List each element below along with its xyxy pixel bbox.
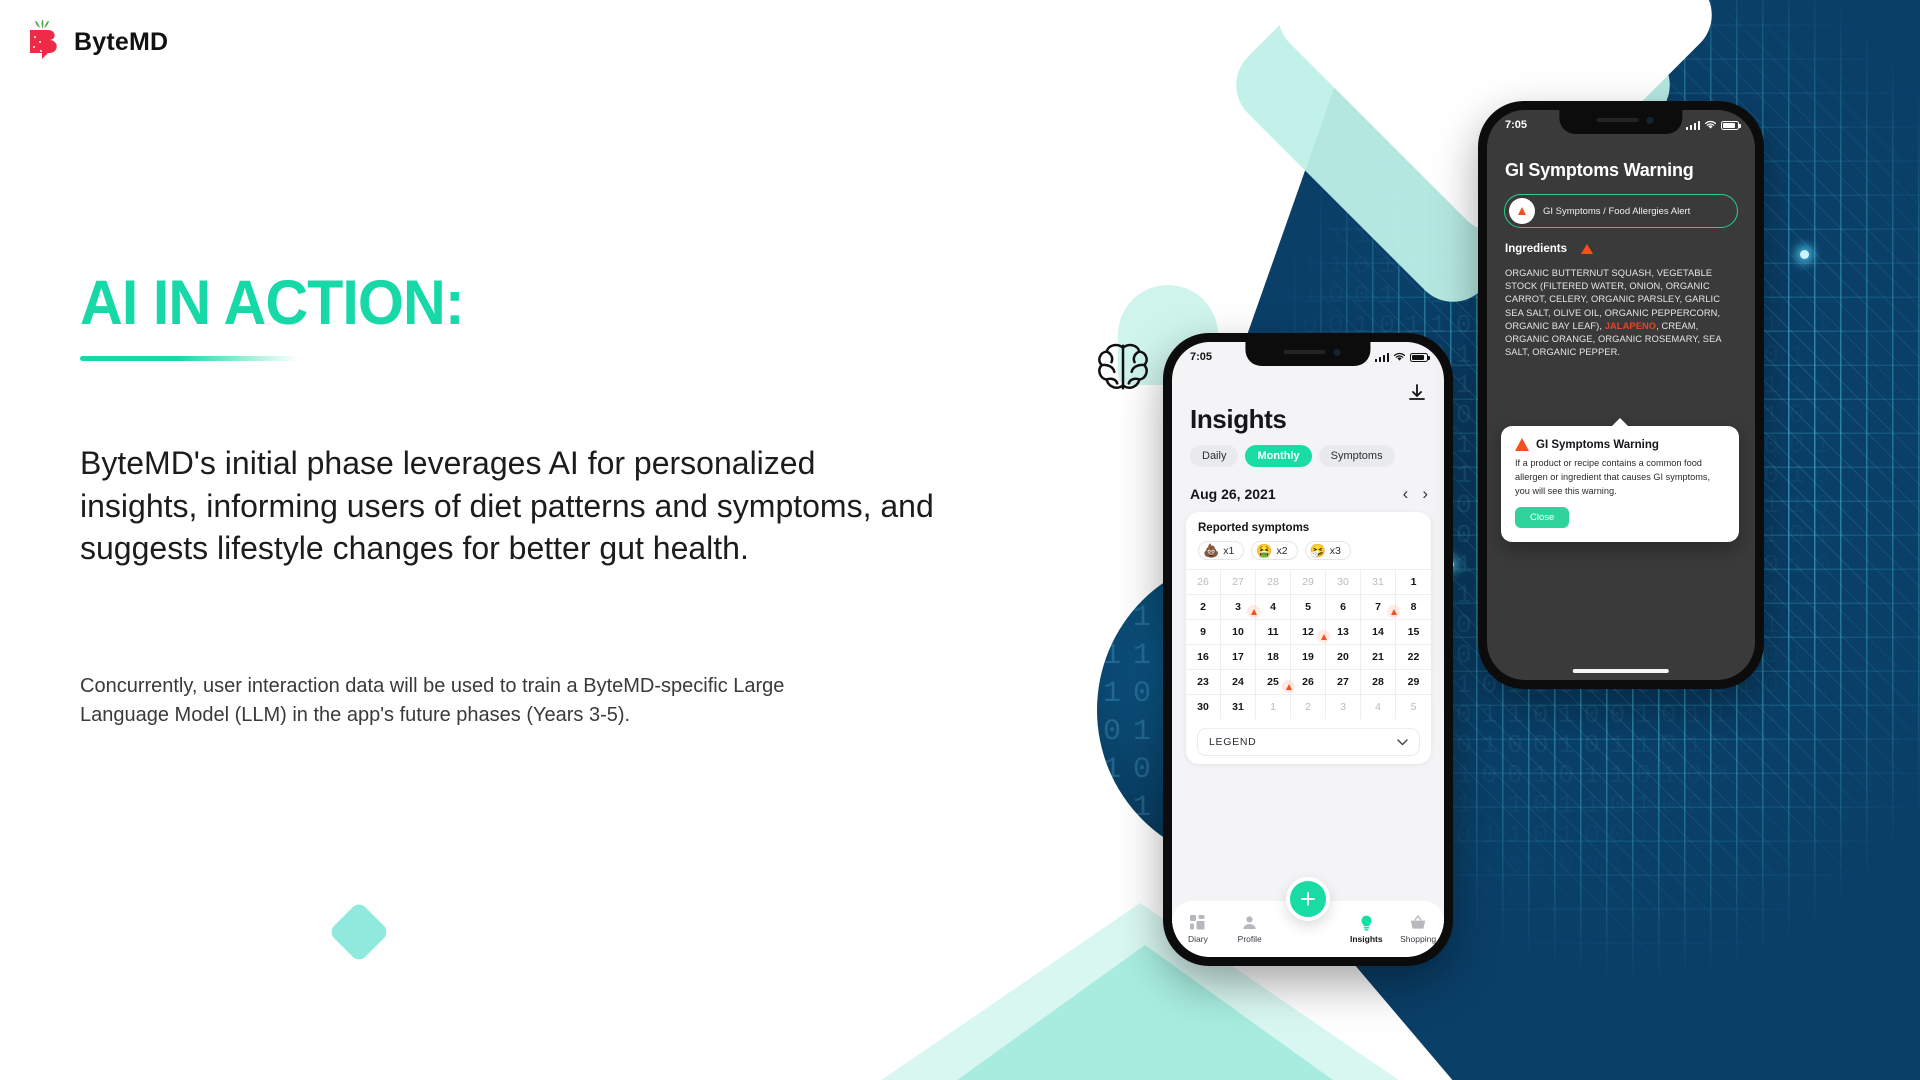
reported-symptoms-card: Reported symptoms 💩 x1 🤮 x2 🤧 x3 2627282… bbox=[1186, 512, 1431, 764]
grid-icon bbox=[1172, 914, 1224, 931]
calendar-day[interactable]: 20 bbox=[1326, 644, 1361, 669]
page-title: AI IN ACTION: bbox=[80, 272, 464, 335]
front-camera bbox=[1334, 349, 1341, 356]
symptom-count: x1 bbox=[1223, 545, 1234, 557]
legend-dropdown[interactable]: LEGEND bbox=[1197, 728, 1420, 756]
status-icons bbox=[1375, 352, 1429, 362]
tab-label: Profile bbox=[1238, 934, 1262, 944]
tab-daily[interactable]: Daily bbox=[1190, 445, 1238, 467]
speaker-grill bbox=[1596, 118, 1638, 122]
calendar-day[interactable]: 2 bbox=[1186, 594, 1221, 619]
symptom-chip[interactable]: 🤧 x3 bbox=[1305, 541, 1351, 560]
segment-control[interactable]: Daily Monthly Symptoms bbox=[1190, 445, 1395, 467]
symptom-chip[interactable]: 🤮 x2 bbox=[1251, 541, 1297, 560]
speaker-grill bbox=[1283, 350, 1326, 354]
brand-name: ByteMD bbox=[74, 28, 168, 57]
lightbulb-icon bbox=[1340, 914, 1392, 931]
calendar-day[interactable]: 8 bbox=[1396, 594, 1431, 619]
strawberry-b-logo-icon bbox=[22, 18, 64, 66]
warning-screen: 7:05 GI Symptoms Warning GI Symptoms / F… bbox=[1487, 110, 1755, 680]
symptom-chip-list: 💩 x1 🤮 x2 🤧 x3 bbox=[1198, 541, 1431, 560]
date-navigator: Aug 26, 2021 ‹ › bbox=[1190, 484, 1428, 504]
tab-symptoms[interactable]: Symptoms bbox=[1319, 445, 1395, 467]
tab-insights[interactable]: Insights bbox=[1340, 914, 1392, 944]
calendar-day[interactable]: 27 bbox=[1221, 569, 1256, 594]
warning-triangle-icon bbox=[1581, 244, 1593, 254]
current-date: Aug 26, 2021 bbox=[1190, 486, 1276, 502]
phone-insights: 7:05 Insights Daily Monthly Symptoms bbox=[1163, 333, 1453, 966]
tab-profile[interactable]: Profile bbox=[1224, 914, 1276, 944]
basket-icon bbox=[1392, 914, 1444, 931]
calendar-day[interactable]: 29 bbox=[1291, 569, 1326, 594]
page-title: Insights bbox=[1190, 404, 1286, 435]
chevron-right-icon[interactable]: › bbox=[1422, 484, 1428, 504]
calendar-day[interactable]: 19 bbox=[1291, 644, 1326, 669]
person-icon bbox=[1224, 914, 1276, 931]
ingredients-text: ORGANIC BUTTERNUT SQUASH, VEGETABLE STOC… bbox=[1505, 267, 1741, 359]
add-entry-fab[interactable]: + bbox=[1286, 877, 1330, 921]
tab-shopping[interactable]: Shopping bbox=[1392, 914, 1444, 944]
tab-label: Shopping bbox=[1400, 934, 1436, 944]
calendar-day[interactable]: 15 bbox=[1396, 619, 1431, 644]
card-title: Reported symptoms bbox=[1198, 522, 1431, 534]
wifi-icon bbox=[1704, 120, 1717, 130]
symptom-count: x3 bbox=[1330, 545, 1341, 557]
brand-logo[interactable]: ByteMD bbox=[22, 18, 168, 66]
calendar-day[interactable]: 31 bbox=[1221, 694, 1256, 719]
status-time: 7:05 bbox=[1505, 119, 1527, 131]
calendar-day[interactable]: 3 bbox=[1326, 694, 1361, 719]
calendar-day[interactable]: 29 bbox=[1396, 669, 1431, 694]
tab-monthly[interactable]: Monthly bbox=[1245, 445, 1311, 467]
symptom-count: x2 bbox=[1276, 545, 1287, 557]
calendar-day[interactable]: 1 bbox=[1256, 694, 1291, 719]
calendar-day[interactable]: 17 bbox=[1221, 644, 1256, 669]
sneezing-face-emoji-icon: 🤧 bbox=[1310, 544, 1326, 557]
cellular-bars-icon bbox=[1375, 353, 1390, 362]
calendar-day[interactable]: 18 bbox=[1256, 644, 1291, 669]
alert-pill-text: GI Symptoms / Food Allergies Alert bbox=[1543, 206, 1690, 217]
battery-icon bbox=[1721, 121, 1739, 130]
tab-label: Diary bbox=[1188, 934, 1208, 944]
calendar-day[interactable]: 4 bbox=[1256, 594, 1291, 619]
warning-tooltip: GI Symptoms Warning If a product or reci… bbox=[1501, 426, 1739, 542]
chevron-left-icon[interactable]: ‹ bbox=[1403, 484, 1409, 504]
calendar-day[interactable]: 11 bbox=[1256, 619, 1291, 644]
title-underline bbox=[80, 356, 298, 361]
home-indicator bbox=[1573, 669, 1669, 673]
sub-paragraph: Concurrently, user interaction data will… bbox=[80, 672, 800, 730]
calendar-day[interactable]: 27 bbox=[1326, 669, 1361, 694]
calendar-day[interactable]: 4 bbox=[1361, 694, 1396, 719]
download-icon[interactable] bbox=[1406, 382, 1428, 404]
calendar-day[interactable]: 13 bbox=[1326, 619, 1361, 644]
legend-label: LEGEND bbox=[1209, 736, 1256, 748]
tooltip-title: GI Symptoms Warning bbox=[1536, 439, 1659, 451]
tooltip-body: If a product or recipe contains a common… bbox=[1515, 457, 1725, 498]
vomiting-face-emoji-icon: 🤮 bbox=[1256, 544, 1272, 557]
chevron-down-icon bbox=[1397, 739, 1408, 746]
ingredients-header: Ingredients bbox=[1505, 243, 1593, 255]
status-icons bbox=[1686, 120, 1740, 130]
calendar-day[interactable]: 25 bbox=[1256, 669, 1291, 694]
tooltip-header: GI Symptoms Warning bbox=[1515, 438, 1725, 451]
calendar-day[interactable]: 7 bbox=[1361, 594, 1396, 619]
symptom-chip[interactable]: 💩 x1 bbox=[1198, 541, 1244, 560]
battery-icon bbox=[1410, 353, 1428, 362]
poop-emoji-icon: 💩 bbox=[1203, 544, 1219, 557]
calendar-day[interactable]: 21 bbox=[1361, 644, 1396, 669]
calendar-day[interactable]: 28 bbox=[1256, 569, 1291, 594]
calendar-day[interactable]: 5 bbox=[1291, 594, 1326, 619]
phone-notch bbox=[1245, 342, 1370, 366]
calendar-day[interactable]: 30 bbox=[1186, 694, 1221, 719]
warning-triangle-icon bbox=[1509, 198, 1535, 224]
calendar-day[interactable]: 2 bbox=[1291, 694, 1326, 719]
phone-warning: 7:05 GI Symptoms Warning GI Symptoms / F… bbox=[1478, 101, 1764, 689]
calendar-day[interactable]: 3 bbox=[1221, 594, 1256, 619]
calendar-day[interactable]: 26 bbox=[1186, 569, 1221, 594]
close-button[interactable]: Close bbox=[1515, 507, 1569, 528]
phone-notch bbox=[1559, 110, 1682, 134]
calendar-day[interactable]: 23 bbox=[1186, 669, 1221, 694]
ingredients-label: Ingredients bbox=[1505, 243, 1567, 255]
status-time: 7:05 bbox=[1190, 351, 1212, 363]
tab-label: Insights bbox=[1350, 934, 1383, 944]
tab-diary[interactable]: Diary bbox=[1172, 914, 1224, 944]
brain-icon bbox=[1094, 340, 1152, 394]
calendar-day[interactable]: 22 bbox=[1396, 644, 1431, 669]
calendar-day[interactable]: 5 bbox=[1396, 694, 1431, 719]
calendar-grid[interactable]: 2627282930311234567891011121314151617181… bbox=[1186, 569, 1431, 719]
mint-diamond-shape bbox=[328, 901, 390, 963]
allergy-alert-pill[interactable]: GI Symptoms / Food Allergies Alert bbox=[1504, 194, 1738, 228]
insights-screen: 7:05 Insights Daily Monthly Symptoms bbox=[1172, 342, 1444, 957]
calendar-day[interactable]: 30 bbox=[1326, 569, 1361, 594]
calendar-day[interactable]: 31 bbox=[1361, 569, 1396, 594]
circuit-node bbox=[1800, 250, 1809, 259]
ingredient-highlight: JALAPENO bbox=[1605, 321, 1656, 331]
wifi-icon bbox=[1393, 352, 1406, 362]
calendar-day[interactable]: 1 bbox=[1396, 569, 1431, 594]
calendar-day[interactable]: 28 bbox=[1361, 669, 1396, 694]
page-title: GI Symptoms Warning bbox=[1505, 160, 1694, 181]
calendar-day[interactable]: 9 bbox=[1186, 619, 1221, 644]
calendar-day[interactable]: 24 bbox=[1221, 669, 1256, 694]
calendar-day[interactable]: 6 bbox=[1326, 594, 1361, 619]
calendar-day[interactable]: 14 bbox=[1361, 619, 1396, 644]
warning-triangle-icon bbox=[1515, 438, 1529, 451]
lead-paragraph: ByteMD's initial phase leverages AI for … bbox=[80, 442, 940, 570]
calendar-day[interactable]: 16 bbox=[1186, 644, 1221, 669]
cellular-bars-icon bbox=[1686, 121, 1701, 130]
front-camera bbox=[1646, 117, 1653, 124]
calendar-day[interactable]: 12 bbox=[1291, 619, 1326, 644]
calendar-day[interactable]: 10 bbox=[1221, 619, 1256, 644]
calendar-day[interactable]: 26 bbox=[1291, 669, 1326, 694]
